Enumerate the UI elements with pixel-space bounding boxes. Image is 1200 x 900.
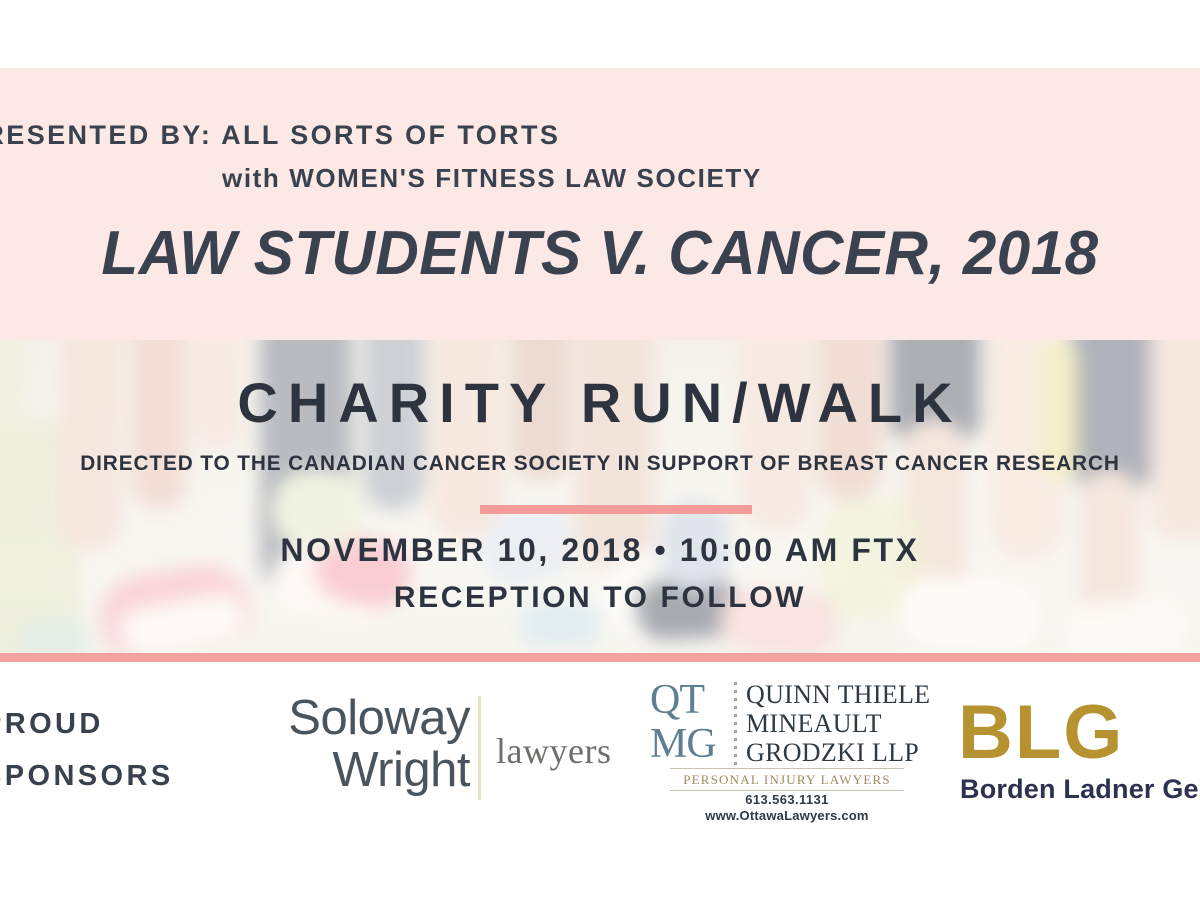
poster-main-title: LAW STUDENTS V. CANCER, 2018 (0, 218, 1200, 289)
proud-sponsors-line2: SPONSORS (0, 750, 174, 802)
reception-line: RECEPTION TO FOLLOW (0, 581, 1200, 615)
charity-run-walk-title: CHARITY RUN/WALK (0, 370, 1200, 435)
qtmg-phone: 613.563.1131 (676, 792, 898, 807)
sponsor-logo-soloway-wright: Soloway Wright lawyers (262, 692, 612, 804)
blg-full-name: Borden Ladner Gervais (960, 774, 1200, 805)
accent-divider-bar (480, 505, 752, 514)
soloway-wright-name: Soloway Wright (262, 692, 470, 796)
soloway-line1: Soloway (262, 692, 470, 744)
qtmg-name-line1: QUINN THIELE (746, 680, 930, 709)
qtmg-monogram-line2: MG (650, 722, 730, 766)
with-prefix: with (222, 163, 289, 193)
sponsor-logo-blg: BLG Borden Ladner Gervais (958, 694, 1200, 804)
qtmg-dotted-rule (734, 682, 737, 766)
qtmg-full-name: QUINN THIELE MINEAULT GRODZKI LLP (746, 680, 930, 767)
date-time-line: NOVEMBER 10, 2018 • 10:00 AM FTX (0, 532, 1200, 569)
blg-wordmark: BLG (958, 694, 1124, 772)
salmon-divider (0, 653, 1200, 662)
qtmg-monogram: QT MG (650, 678, 730, 766)
proud-sponsors-line1: PROUD (0, 698, 174, 750)
presented-by-line: PRESENTED BY: ALL SORTS OF TORTS (0, 120, 1200, 151)
qtmg-practice-area: PERSONAL INJURY LAWYERS (676, 772, 898, 788)
qtmg-name-line2: MINEAULT (746, 709, 930, 738)
top-white-band (0, 0, 1200, 68)
soloway-line2: Wright (262, 744, 470, 796)
qtmg-website: www.OttawaLawyers.com (676, 808, 898, 823)
event-poster: PRESENTED BY: ALL SORTS OF TORTS with WO… (0, 0, 1200, 900)
pink-header-band (0, 68, 1200, 340)
qtmg-rule-top (670, 768, 904, 769)
qtmg-rule-bottom (670, 790, 904, 791)
qtmg-name-line3: GRODZKI LLP (746, 738, 930, 767)
partner-org-line: with WOMEN'S FITNESS LAW SOCIETY (222, 163, 762, 194)
proud-sponsors-heading: PROUD SPONSORS (0, 698, 174, 802)
qtmg-monogram-line1: QT (650, 678, 730, 722)
soloway-tagline: lawyers (496, 730, 611, 772)
beneficiary-line: DIRECTED TO THE CANADIAN CANCER SOCIETY … (6, 452, 1194, 476)
partner-org-name: WOMEN'S FITNESS LAW SOCIETY (289, 163, 762, 193)
sponsor-logo-qtmg: QT MG QUINN THIELE MINEAULT GRODZKI LLP … (650, 676, 908, 812)
soloway-vertical-rule (478, 696, 481, 800)
